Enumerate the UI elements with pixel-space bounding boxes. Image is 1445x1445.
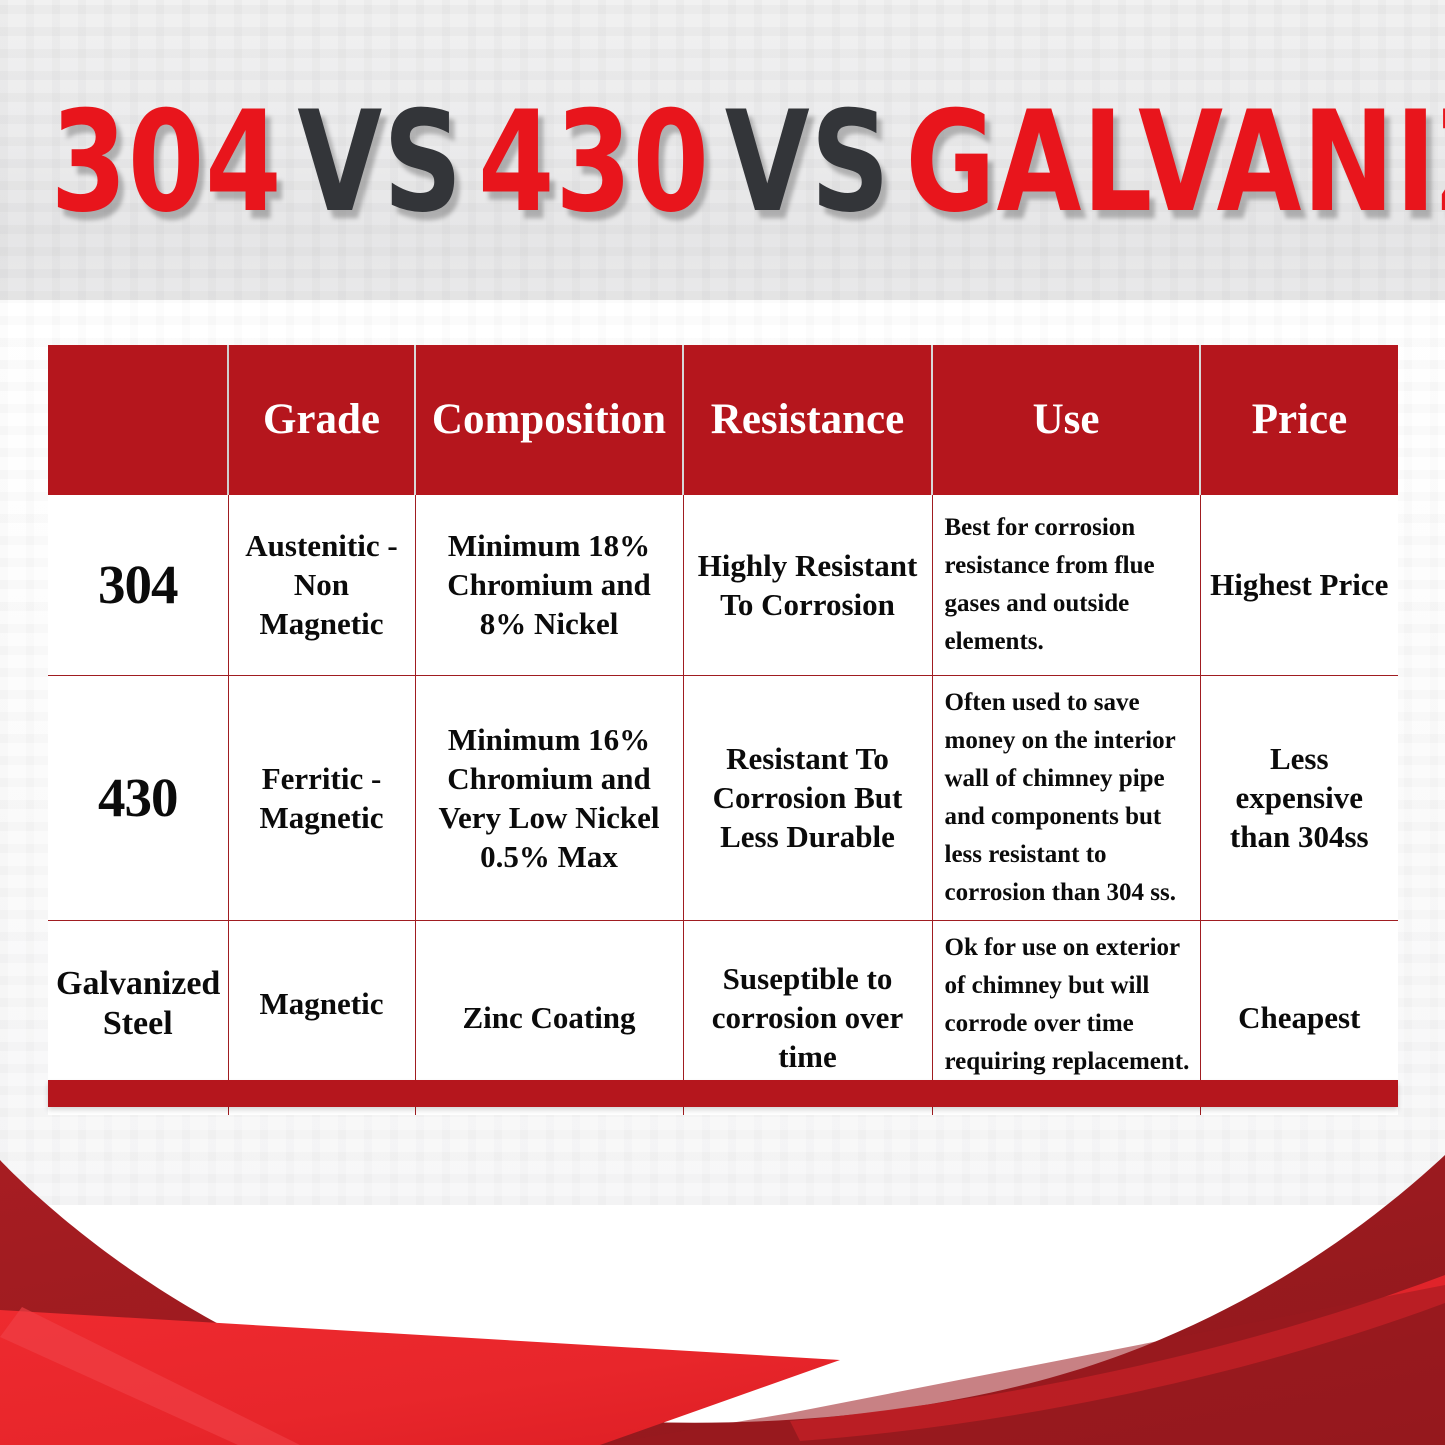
table-row: 304 Austenitic - Non Magnetic Minimum 18… — [48, 495, 1398, 675]
table-row: 430 Ferritic - Magnetic Minimum 16% Chro… — [48, 675, 1398, 920]
cell-price-430: Less expensive than 304ss — [1200, 675, 1398, 920]
title-part-vs-2: VS — [725, 80, 891, 243]
cell-use-430: Often used to save money on the interior… — [932, 675, 1200, 920]
cell-material-304: 304 — [48, 495, 228, 675]
title-part-vs-1: VS — [297, 80, 463, 243]
comparison-table-wrapper: Grade Composition Resistance Use Price 3… — [48, 345, 1398, 1115]
cell-composition-430: Minimum 16% Chromium and Very Low Nickel… — [415, 675, 683, 920]
cell-price-304: Highest Price — [1200, 495, 1398, 675]
title-part-304: 304 — [51, 80, 283, 243]
swoosh-svg — [0, 1155, 1445, 1445]
table-body: 304 Austenitic - Non Magnetic Minimum 18… — [48, 495, 1398, 1115]
page-title: 304VS430VSGALVANIZED — [51, 92, 1395, 231]
comparison-table: Grade Composition Resistance Use Price 3… — [48, 345, 1398, 1115]
table-header-row: Grade Composition Resistance Use Price — [48, 345, 1398, 495]
column-header-blank — [48, 345, 228, 495]
column-header-composition: Composition — [415, 345, 683, 495]
title-part-430: 430 — [478, 80, 710, 243]
cell-resistance-430: Resistant To Corrosion But Less Durable — [683, 675, 932, 920]
column-header-grade: Grade — [228, 345, 415, 495]
cell-grade-430: Ferritic - Magnetic — [228, 675, 415, 920]
table-header: Grade Composition Resistance Use Price — [48, 345, 1398, 495]
infographic-canvas: 304VS430VSGALVANIZED Grade Composition R… — [0, 0, 1445, 1445]
column-header-price: Price — [1200, 345, 1398, 495]
column-header-use: Use — [932, 345, 1200, 495]
cell-material-430: 430 — [48, 675, 228, 920]
table-footer-bar — [48, 1080, 1398, 1107]
bottom-decorative-swoosh — [0, 1155, 1445, 1445]
cell-composition-304: Minimum 18% Chromium and 8% Nickel — [415, 495, 683, 675]
cell-grade-304: Austenitic - Non Magnetic — [228, 495, 415, 675]
cell-resistance-304: Highly Resistant To Corrosion — [683, 495, 932, 675]
cell-use-304: Best for corrosion resistance from flue … — [932, 495, 1200, 675]
column-header-resistance: Resistance — [683, 345, 932, 495]
title-part-galvanized: GALVANIZED — [906, 80, 1445, 243]
